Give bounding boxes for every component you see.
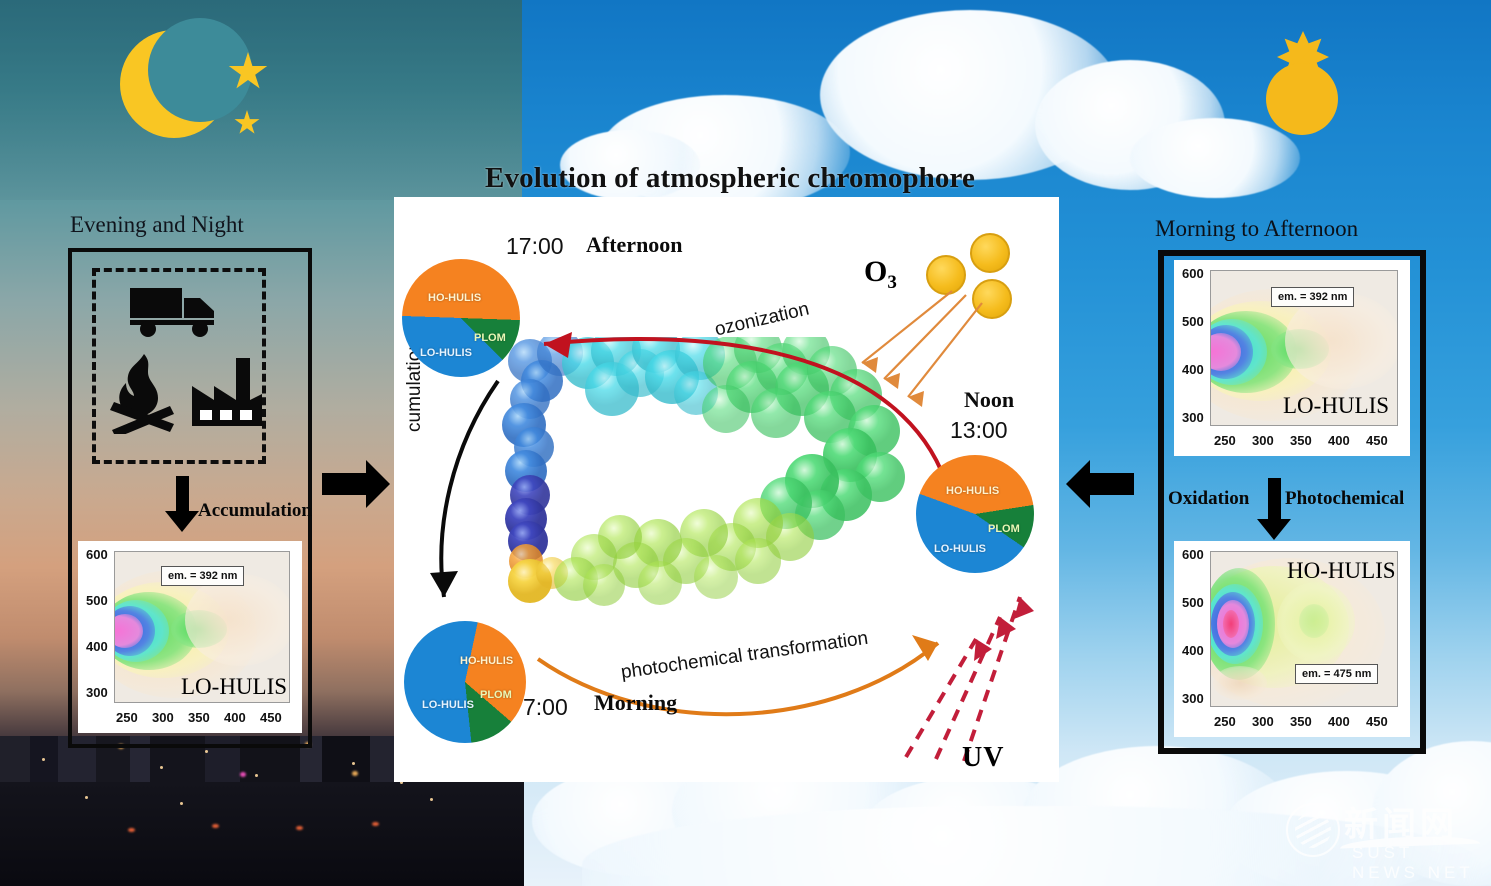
pie-chart-afternoon [402, 259, 520, 377]
pie-slice-label-lo-hulis: LO-HULIS [934, 543, 986, 555]
eem-y-tick: 300 [1182, 691, 1204, 706]
center-cycle-panel: ozonization photochemical transformation… [394, 197, 1059, 782]
pie-slice-label-lo-hulis: LO-HULIS [422, 699, 474, 711]
eem-x-tick: 400 [1328, 433, 1350, 448]
left-panel-heading: Evening and Night [70, 212, 244, 238]
sun-disc [1266, 63, 1338, 135]
pie-slice-label-plom: PLOM [988, 523, 1020, 535]
oxidation-label: Oxidation [1168, 488, 1249, 510]
eem-x-tick: 450 [260, 710, 282, 725]
eem-canvas: em. = 392 nm LO-HULIS [114, 551, 290, 703]
eem-sample-name: LO-HULIS [1283, 393, 1389, 419]
eem-plot-right-ho-hulis: HO-HULIS em. = 475 nm 600 500 400 300 25… [1174, 541, 1410, 737]
eem-x-tick: 450 [1366, 714, 1388, 729]
campfire-icon [104, 352, 180, 434]
ozone-molecule-icon [970, 233, 1010, 273]
contour-bottom-tan [1213, 666, 1267, 700]
period-label-morning: Morning [594, 690, 677, 716]
oxidation-arrow [1268, 478, 1281, 520]
eem-x-tick: 400 [1328, 714, 1350, 729]
eem-x-tick: 250 [1214, 714, 1236, 729]
eem-annotation-badge: em. = 392 nm [161, 566, 244, 586]
factory-icon [188, 352, 264, 430]
left-to-center-arrow [322, 473, 368, 495]
eem-annotation-badge: em. = 392 nm [1271, 287, 1354, 307]
pie-slice-label-ho-hulis: HO-HULIS [946, 485, 999, 497]
eem-y-tick: 400 [1182, 643, 1204, 658]
eem-canvas: em. = 392 nm LO-HULIS [1210, 270, 1398, 426]
eem-y-tick: 500 [1182, 314, 1204, 329]
photochemical-label: Photochemical [1285, 488, 1404, 510]
eem-canvas: HO-HULIS em. = 475 nm [1210, 551, 1398, 707]
uv-arrows [844, 587, 1034, 767]
pie-slice-label-plom: PLOM [474, 332, 506, 344]
eem-x-tick: 250 [116, 710, 138, 725]
pie-slice-label-plom: PLOM [480, 689, 512, 701]
eem-x-tick: 250 [1214, 433, 1236, 448]
watermark: 新闻网 SUST NEWS NET [1282, 795, 1482, 875]
eem-plot-right-lo-hulis: em. = 392 nm LO-HULIS 600 500 400 300 25… [1174, 260, 1410, 456]
eem-y-tick: 400 [86, 639, 108, 654]
moon-and-stars-icon [110, 22, 300, 157]
watermark-english-text: SUST NEWS NET [1352, 843, 1482, 883]
time-label-noon: 13:00 [950, 417, 1008, 444]
eem-y-tick: 500 [86, 593, 108, 608]
eem-x-tick: 300 [1252, 433, 1274, 448]
eem-y-tick: 500 [1182, 595, 1204, 610]
eem-y-tick: 600 [86, 547, 108, 562]
eem-y-tick: 600 [1182, 266, 1204, 281]
uv-label: UV [962, 742, 1004, 774]
page-title: Evolution of atmospheric chromophore [400, 162, 1060, 195]
eem-y-tick: 300 [1182, 410, 1204, 425]
period-label-afternoon: Afternoon [586, 232, 683, 258]
contour-core-red [1223, 610, 1239, 638]
contour-secondary-halo [1277, 582, 1355, 662]
accumulation-label: Accumulation [198, 500, 312, 522]
pie-chart-morning [404, 621, 526, 743]
time-label-morning: 7:00 [523, 694, 568, 721]
pie-chart-noon [916, 455, 1034, 573]
accumulation-arrow [176, 476, 189, 512]
period-label-noon: Noon [964, 387, 1014, 413]
eem-x-tick: 350 [188, 710, 210, 725]
contour-tail-tan [1285, 293, 1398, 389]
star-small-icon [234, 110, 260, 136]
eem-annotation-badge: em. = 475 nm [1295, 664, 1378, 684]
pie-slice-label-ho-hulis: HO-HULIS [428, 292, 481, 304]
contour-tail-tan [185, 574, 290, 666]
eem-y-tick: 600 [1182, 547, 1204, 562]
eem-plot-left-lo-hulis: em. = 392 nm LO-HULIS 600 500 400 300 25… [78, 541, 302, 733]
eem-x-tick: 300 [152, 710, 174, 725]
eem-y-tick: 300 [86, 685, 108, 700]
eem-x-tick: 350 [1290, 433, 1312, 448]
time-label-afternoon: 17:00 [506, 233, 564, 260]
truck-icon [128, 282, 226, 338]
eem-x-tick: 300 [1252, 714, 1274, 729]
watermark-logo-icon [1286, 803, 1340, 857]
graphical-abstract: Evolution of atmospheric chromophore Eve… [0, 0, 1491, 886]
eem-x-tick: 400 [224, 710, 246, 725]
ozone-symbol: O [864, 255, 887, 288]
eem-sample-name: HO-HULIS [1287, 558, 1396, 584]
sun-icon [1228, 30, 1378, 170]
pie-slice-label-lo-hulis: LO-HULIS [420, 347, 472, 359]
eem-sample-name: LO-HULIS [181, 674, 287, 700]
pie-slice-label-ho-hulis: HO-HULIS [460, 655, 513, 667]
eem-x-tick: 450 [1366, 433, 1388, 448]
eem-x-tick: 350 [1290, 714, 1312, 729]
right-to-center-arrow [1088, 473, 1134, 495]
cumulation-arrow [412, 377, 522, 632]
right-panel-heading: Morning to Afternoon [1155, 216, 1358, 242]
eem-y-tick: 400 [1182, 362, 1204, 377]
